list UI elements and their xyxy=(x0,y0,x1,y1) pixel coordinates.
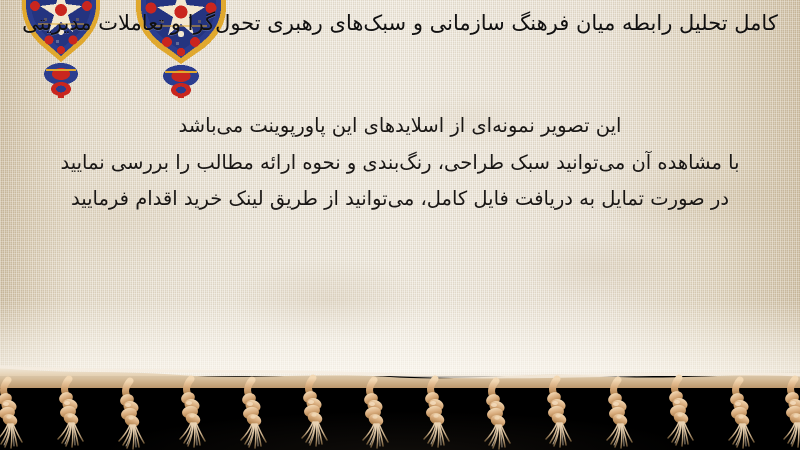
slide-canvas: کامل تحلیل رابطه میان فرهنگ سازمانی و سب… xyxy=(0,0,800,450)
black-background-field xyxy=(0,376,800,450)
slide-body: این تصویر نمونه‌ای از اسلایدهای این پاور… xyxy=(0,108,800,218)
body-line-1: این تصویر نمونه‌ای از اسلایدهای این پاور… xyxy=(26,108,774,145)
slide-title: کامل تحلیل رابطه میان فرهنگ سازمانی و سب… xyxy=(0,8,800,40)
body-line-2: با مشاهده آن می‌توانید سبک طراحی، رنگ‌بن… xyxy=(26,145,774,182)
body-line-3: در صورت تمایل به دریافت فایل کامل، می‌تو… xyxy=(26,181,774,218)
